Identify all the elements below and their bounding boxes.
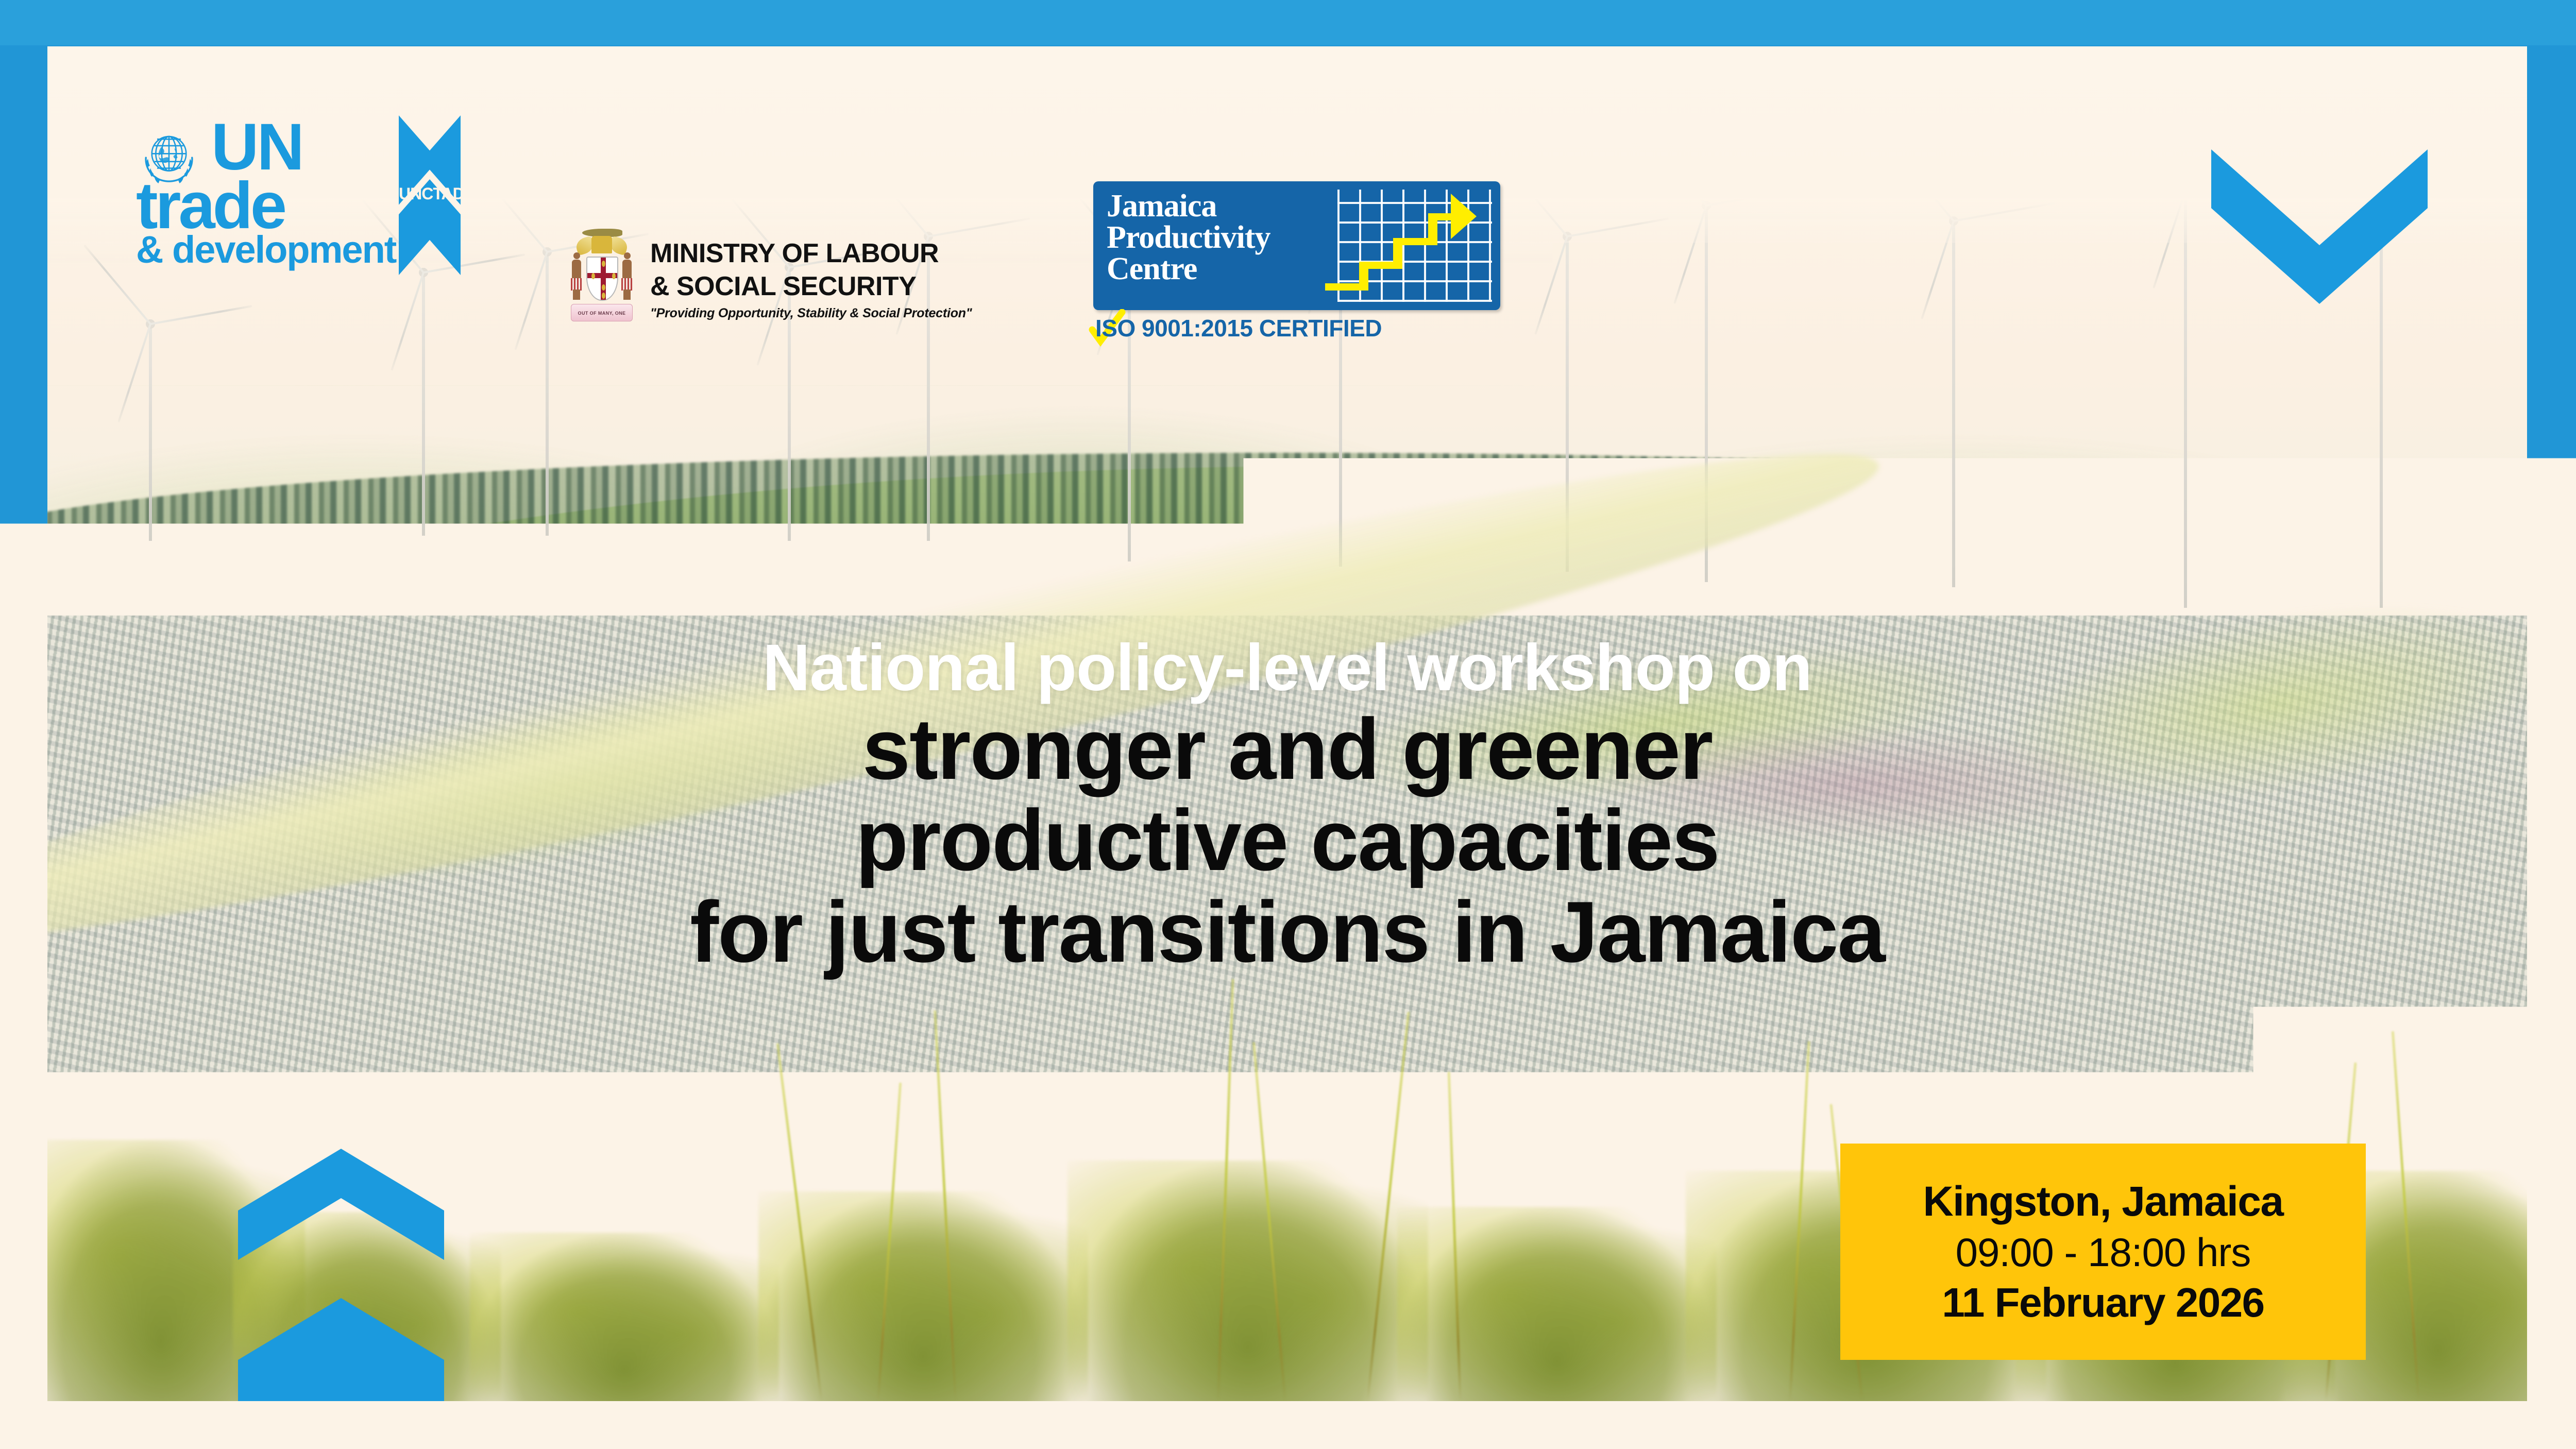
unctad-logo[interactable]: UN trade & development UNCTAD (136, 124, 486, 258)
jpc-line3: Centre (1107, 253, 1270, 285)
iso-certification-label: ISO 9001:2015 CERTIFIED (1095, 314, 1382, 342)
coat-of-arms-motto: OUT OF MANY, ONE PEOPLE (571, 304, 633, 321)
foreground-shrub (1067, 1161, 1428, 1401)
event-location: Kingston, Jamaica (1840, 1178, 2366, 1226)
foreground-shrub (1397, 1207, 1717, 1401)
unctad-badge-label: UNCTAD (399, 184, 461, 203)
ministry-title-line2: & SOCIAL SECURITY (650, 271, 916, 302)
event-banner: UN trade & development UNCTAD (0, 0, 2576, 1449)
jpc-growth-arrow-icon (1322, 184, 1497, 306)
event-date: 11 February 2026 (1840, 1279, 2366, 1326)
wind-turbine (140, 319, 161, 541)
event-time: 09:00 - 18:00 hrs (1840, 1229, 2366, 1276)
ministry-tagline: "Providing Opportunity, Stability & Soci… (650, 306, 972, 321)
event-details-card: Kingston, Jamaica 09:00 - 18:00 hrs 11 F… (1840, 1144, 2366, 1360)
wind-turbine (413, 268, 434, 536)
foreground-shrub (470, 1233, 779, 1401)
wind-turbine (1943, 216, 1964, 587)
ministry-of-labour-logo[interactable]: OUT OF MANY, ONE PEOPLE MINISTRY OF LABO… (568, 233, 1031, 351)
wind-turbine (537, 247, 557, 536)
jamaica-productivity-centre-logo[interactable]: Jamaica Productivity Centre ISO 9001:201… (1093, 181, 1521, 356)
jpc-wordmark: Jamaica Productivity Centre (1107, 191, 1270, 284)
ministry-title-line1: MINISTRY OF LABOUR (650, 238, 939, 269)
jpc-logo-box: Jamaica Productivity Centre (1093, 181, 1500, 310)
jpc-line2: Productivity (1107, 222, 1270, 253)
unctad-development-text: & development (136, 231, 396, 269)
jamaica-coat-of-arms-icon: OUT OF MANY, ONE PEOPLE (568, 227, 636, 336)
jpc-line1: Jamaica (1107, 191, 1270, 222)
photo-stage: UN trade & development UNCTAD (47, 46, 2527, 1401)
